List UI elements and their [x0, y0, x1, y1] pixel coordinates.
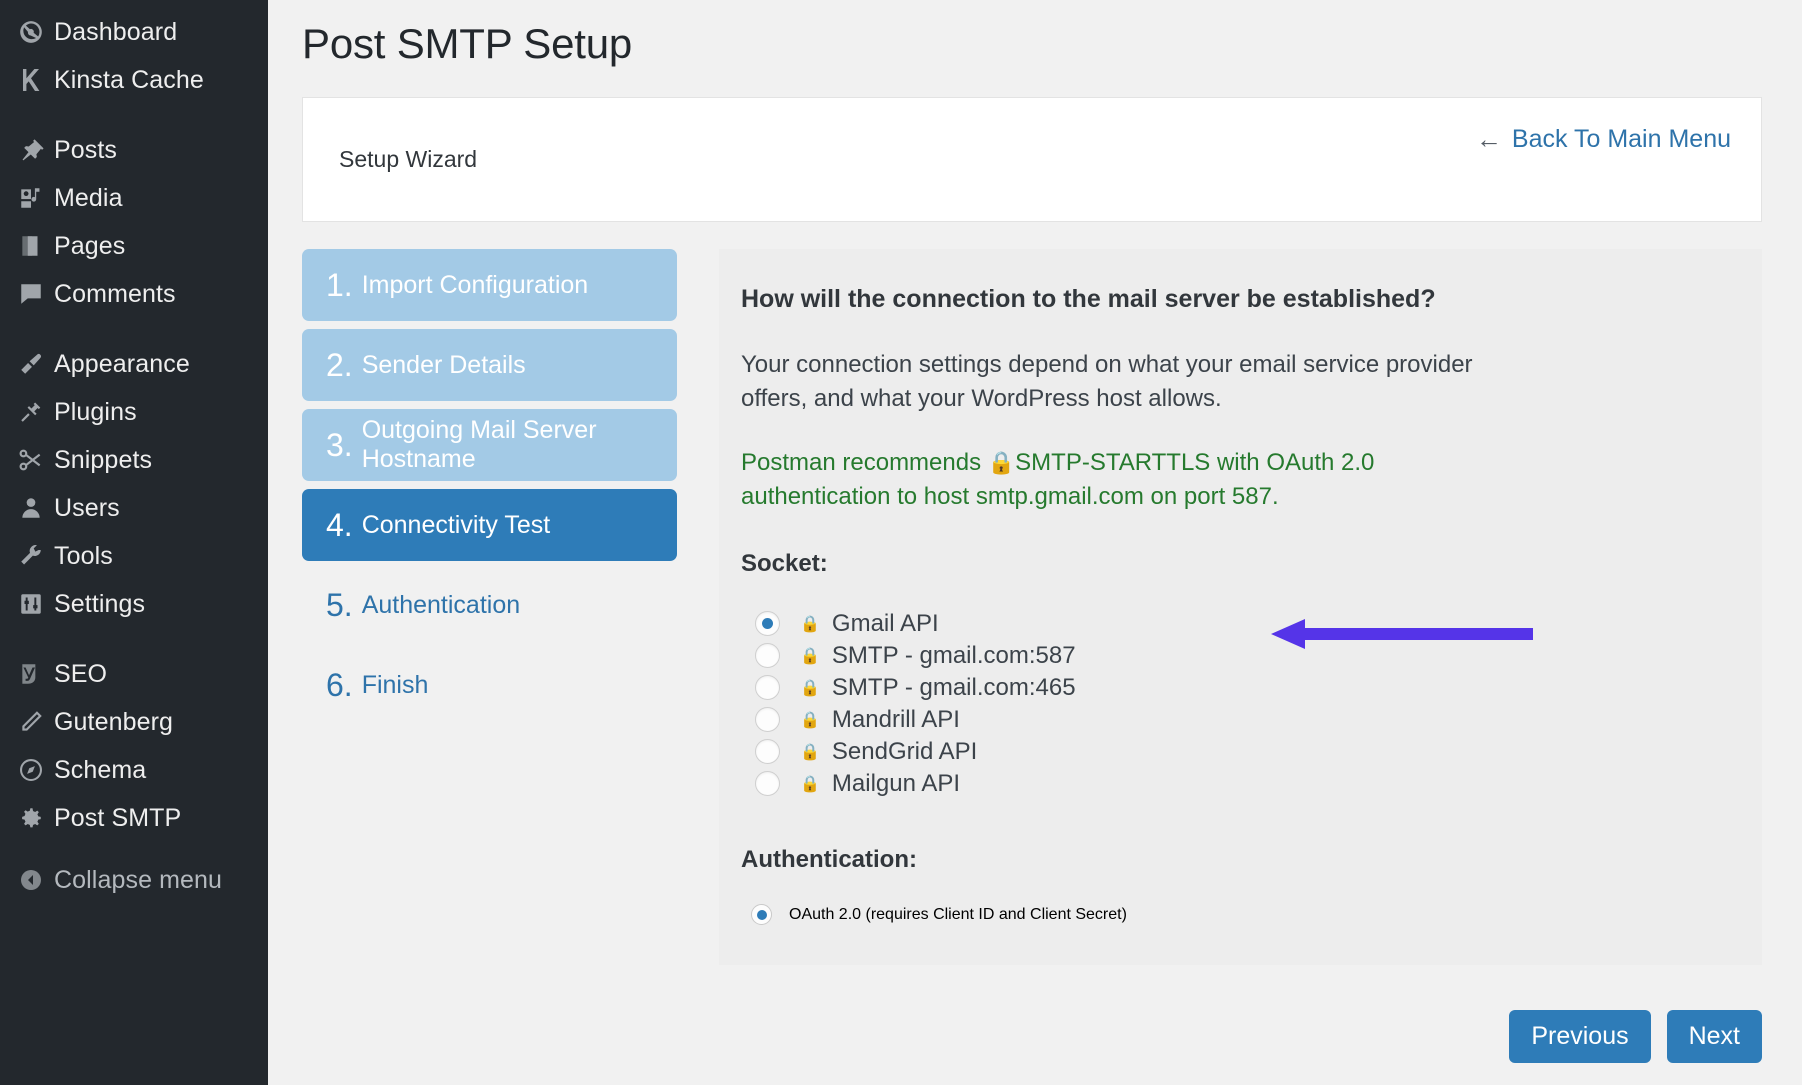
socket-option-mandrill-api[interactable]: 🔒 Mandrill API — [755, 704, 1728, 735]
socket-option-smtp-465[interactable]: 🔒 SMTP - gmail.com:465 — [755, 672, 1728, 703]
pin-icon — [8, 137, 54, 163]
sidebar-item-label: Users — [54, 494, 120, 523]
sidebar-item-label: Media — [54, 184, 123, 213]
socket-option-label: SMTP - gmail.com:465 — [832, 674, 1076, 702]
sidebar-item-label: Pages — [54, 232, 125, 261]
compass-icon — [8, 757, 54, 783]
socket-option-mailgun-api[interactable]: 🔒 Mailgun API — [755, 768, 1728, 799]
lock-icon: 🔒 — [988, 450, 1015, 475]
wizard-step-outgoing-mail-server-hostname[interactable]: 3. Outgoing Mail Server Hostname — [302, 409, 677, 481]
sidebar-item-label: Kinsta Cache — [54, 66, 204, 95]
socket-option-smtp-587[interactable]: 🔒 SMTP - gmail.com:587 — [755, 640, 1728, 671]
sidebar-item-label: SEO — [54, 660, 107, 689]
wizard-step-finish[interactable]: 6. Finish — [302, 649, 677, 721]
collapse-menu-button[interactable]: Collapse menu — [0, 856, 268, 904]
wizard-step-authentication[interactable]: 5. Authentication — [302, 569, 677, 641]
auth-option-label: OAuth 2.0 (requires Client ID and Client… — [789, 906, 1127, 924]
sidebar-item-pages[interactable]: Pages — [0, 222, 268, 270]
user-icon — [8, 495, 54, 521]
sidebar-item-plugins[interactable]: Plugins — [0, 388, 268, 436]
sidebar-item-tools[interactable]: Tools — [0, 532, 268, 580]
sidebar-item-seo[interactable]: SEO — [0, 650, 268, 698]
back-to-main-menu-label: Back To Main Menu — [1512, 125, 1731, 154]
sidebar-item-settings[interactable]: Settings — [0, 580, 268, 628]
step-number: 3. — [326, 427, 353, 464]
step-label: Connectivity Test — [362, 511, 551, 540]
socket-option-label: Mandrill API — [832, 706, 960, 734]
auth-option-oauth2[interactable]: OAuth 2.0 (requires Client ID and Client… — [751, 904, 1728, 925]
wizard-step-connectivity-test[interactable]: 4. Connectivity Test — [302, 489, 677, 561]
connectivity-test-panel: How will the connection to the mail serv… — [719, 249, 1762, 965]
step-label: Import Configuration — [362, 271, 589, 300]
comment-icon — [8, 281, 54, 307]
step-label: Authentication — [362, 591, 520, 620]
wizard-body: 1. Import Configuration 2. Sender Detail… — [302, 249, 1762, 965]
radio-button[interactable] — [755, 611, 780, 636]
socket-option-list: 🔒 Gmail API 🔒 SMTP - gmail.com:587 🔒 SMT… — [755, 608, 1728, 799]
lock-icon: 🔒 — [800, 646, 820, 666]
wrench-icon — [8, 543, 54, 569]
socket-option-label: Mailgun API — [832, 770, 960, 798]
sidebar-divider — [0, 104, 268, 126]
sidebar-divider — [0, 318, 268, 340]
sidebar-item-label: Appearance — [54, 350, 190, 379]
wizard-footer-buttons: Previous Next — [1509, 1010, 1762, 1063]
step-number: 2. — [326, 347, 353, 384]
card-title: Setup Wizard — [339, 146, 477, 173]
socket-option-label: SendGrid API — [832, 738, 977, 766]
pencil-icon — [8, 709, 54, 735]
pages-icon — [8, 233, 54, 259]
step-number: 6. — [326, 667, 353, 704]
collapse-arrow-icon — [8, 868, 54, 892]
radio-button[interactable] — [751, 904, 772, 925]
sidebar-item-kinsta-cache[interactable]: Kinsta Cache — [0, 56, 268, 104]
recommendation-prefix: Postman recommends — [741, 449, 988, 476]
sidebar-item-label: Post SMTP — [54, 804, 181, 833]
step-number: 1. — [326, 267, 353, 304]
lock-icon: 🔒 — [800, 614, 820, 634]
sidebar-item-media[interactable]: Media — [0, 174, 268, 222]
wizard-steps: 1. Import Configuration 2. Sender Detail… — [302, 249, 677, 729]
sidebar-item-label: Dashboard — [54, 18, 177, 47]
paintbrush-icon — [8, 351, 54, 377]
wizard-step-import-configuration[interactable]: 1. Import Configuration — [302, 249, 677, 321]
scissors-icon — [8, 447, 54, 473]
setup-wizard-card: Setup Wizard ← Back To Main Menu — [302, 97, 1762, 222]
admin-screen: Dashboard Kinsta Cache Posts Media — [0, 0, 1802, 1085]
kinsta-k-icon — [8, 67, 54, 93]
socket-option-sendgrid-api[interactable]: 🔒 SendGrid API — [755, 736, 1728, 767]
sidebar-item-label: Gutenberg — [54, 708, 173, 737]
step-number: 5. — [326, 587, 353, 624]
sidebar-item-post-smtp[interactable]: Post SMTP — [0, 794, 268, 842]
sidebar-item-posts[interactable]: Posts — [0, 126, 268, 174]
back-to-main-menu-link[interactable]: ← Back To Main Menu — [1476, 125, 1731, 154]
authentication-label: Authentication: — [741, 846, 1728, 874]
next-button[interactable]: Next — [1667, 1010, 1762, 1063]
admin-sidebar: Dashboard Kinsta Cache Posts Media — [0, 0, 268, 1085]
step-label: Outgoing Mail Server Hostname — [362, 416, 677, 474]
sidebar-item-label: Comments — [54, 280, 176, 309]
socket-label: Socket: — [741, 550, 1728, 578]
lock-icon: 🔒 — [800, 678, 820, 698]
dashboard-icon — [8, 19, 54, 45]
media-icon — [8, 185, 54, 211]
sidebar-item-label: Snippets — [54, 446, 152, 475]
sidebar-item-schema[interactable]: Schema — [0, 746, 268, 794]
lock-icon: 🔒 — [800, 742, 820, 762]
step-label: Sender Details — [362, 351, 526, 380]
radio-button[interactable] — [755, 771, 780, 796]
main-content: Post SMTP Setup Setup Wizard ← Back To M… — [268, 0, 1802, 1085]
radio-button[interactable] — [755, 707, 780, 732]
sidebar-item-label: Plugins — [54, 398, 137, 427]
recommendation-text: Postman recommends 🔒SMTP-STARTTLS with O… — [741, 446, 1471, 514]
arrow-left-icon: ← — [1476, 126, 1502, 152]
page-title: Post SMTP Setup — [302, 0, 1762, 68]
sidebar-item-appearance[interactable]: Appearance — [0, 340, 268, 388]
radio-button[interactable] — [755, 643, 780, 668]
panel-lead-text: Your connection settings depend on what … — [741, 348, 1531, 416]
sidebar-item-gutenberg[interactable]: Gutenberg — [0, 698, 268, 746]
socket-option-label: Gmail API — [832, 610, 939, 638]
socket-option-gmail-api[interactable]: 🔒 Gmail API — [755, 608, 1728, 639]
sidebar-divider — [0, 628, 268, 650]
sidebar-item-dashboard[interactable]: Dashboard — [0, 8, 268, 56]
step-number: 4. — [326, 507, 353, 544]
panel-heading: How will the connection to the mail serv… — [741, 285, 1728, 314]
lock-icon: 🔒 — [800, 710, 820, 730]
radio-button[interactable] — [755, 739, 780, 764]
socket-option-label: SMTP - gmail.com:587 — [832, 642, 1076, 670]
radio-button[interactable] — [755, 675, 780, 700]
sidebar-item-label: Schema — [54, 756, 146, 785]
plug-icon — [8, 399, 54, 425]
step-label: Finish — [362, 671, 429, 700]
sidebar-item-snippets[interactable]: Snippets — [0, 436, 268, 484]
sidebar-item-label: Posts — [54, 136, 117, 165]
yoast-icon — [8, 661, 54, 687]
collapse-menu-label: Collapse menu — [54, 866, 222, 895]
sidebar-item-users[interactable]: Users — [0, 484, 268, 532]
wizard-step-sender-details[interactable]: 2. Sender Details — [302, 329, 677, 401]
sliders-icon — [8, 591, 54, 617]
sidebar-item-comments[interactable]: Comments — [0, 270, 268, 318]
gear-icon — [8, 805, 54, 831]
previous-button[interactable]: Previous — [1509, 1010, 1650, 1063]
sidebar-item-label: Tools — [54, 542, 113, 571]
lock-icon: 🔒 — [800, 774, 820, 794]
sidebar-item-label: Settings — [54, 590, 145, 619]
